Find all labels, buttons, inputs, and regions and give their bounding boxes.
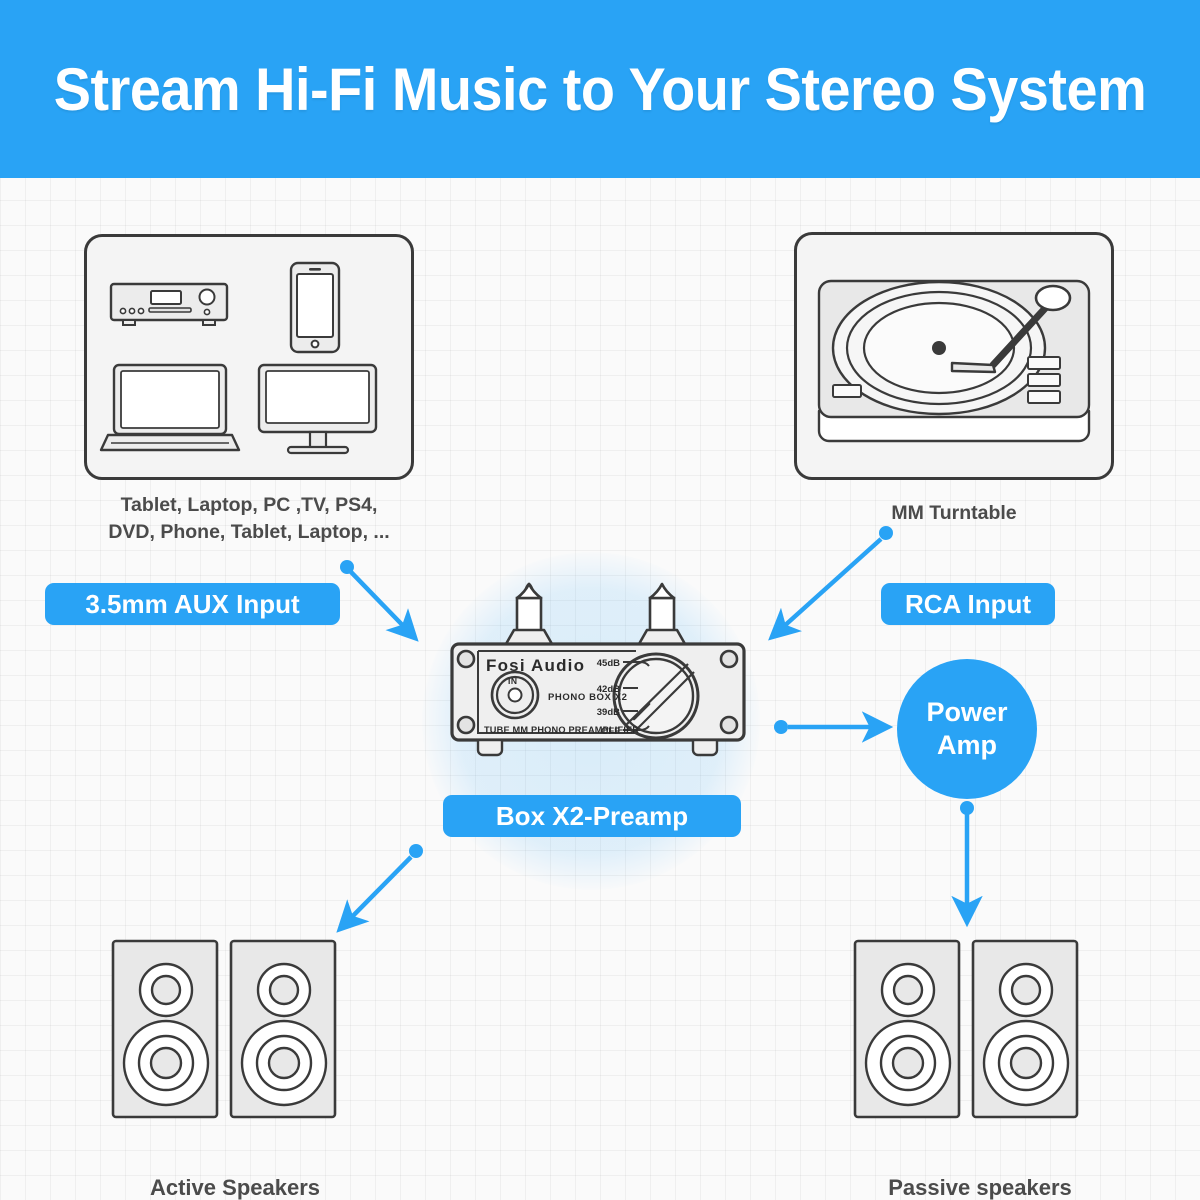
active-speakers-caption-rest: Speakers <box>216 1175 320 1200</box>
preamp-device: Fosi Audio IN PHONO BOX X2 TUBE MM PHONO… <box>438 578 758 778</box>
arrow-power-amp-to-passive-speakers <box>960 801 974 922</box>
vacuum-tube-left-icon <box>506 584 552 644</box>
rca-input-label: RCA Input <box>881 583 1055 625</box>
passive-speakers-group <box>852 938 1102 1128</box>
gain-label-off: OFF <box>601 726 620 737</box>
passive-speakers-caption: Passive speakers <box>840 1147 1120 1200</box>
power-amp-node: Power Amp <box>897 659 1037 799</box>
power-amp-line2: Amp <box>937 729 997 762</box>
header-banner: Stream Hi-Fi Music to Your Stereo System <box>0 0 1200 178</box>
passive-speakers-caption-underlined: Passive <box>888 1175 970 1200</box>
gain-label-39db: 39dB <box>597 707 620 718</box>
arrow-aux-to-preamp <box>340 560 415 638</box>
arrow-rca-to-preamp <box>772 526 893 637</box>
passive-speakers-caption-rest: speakers <box>970 1175 1072 1200</box>
active-speakers-group <box>110 938 360 1128</box>
speaker-icon <box>231 941 335 1117</box>
turntable-panel <box>794 232 1114 480</box>
infographic-canvas: Stream Hi-Fi Music to Your Stereo System <box>0 0 1200 1200</box>
preamp-label: Box X2-Preamp <box>443 795 741 837</box>
arrow-preamp-to-active-speakers <box>340 844 423 929</box>
rca-input-label-text: RCA Input <box>905 589 1031 620</box>
preamp-input-label-text: IN <box>508 676 518 686</box>
digital-sources-caption: Tablet, Laptop, PC ,TV, PS4, DVD, Phone,… <box>64 492 434 546</box>
active-speakers-caption-underlined: Active <box>150 1175 216 1200</box>
smartphone-icon <box>291 263 339 352</box>
page-title: Stream Hi-Fi Music to Your Stereo System <box>42 0 1158 178</box>
power-amp-line1: Power <box>926 696 1007 729</box>
speaker-icon <box>973 941 1077 1117</box>
gain-label-45db: 45dB <box>597 658 620 669</box>
gain-label-42db: 42dB <box>597 684 620 695</box>
preamp-label-text: Box X2-Preamp <box>496 801 688 832</box>
turntable-icon <box>797 235 1111 477</box>
dvd-player-icon <box>111 284 227 325</box>
active-speakers-caption: Active Speakers <box>95 1147 375 1200</box>
aux-input-label: 3.5mm AUX Input <box>45 583 340 625</box>
digital-sources-icons <box>87 237 411 477</box>
preamp-brand-text: Fosi Audio <box>486 656 585 675</box>
laptop-icon <box>101 365 239 450</box>
turntable-caption: MM Turntable <box>804 500 1104 527</box>
speaker-icon <box>113 941 217 1117</box>
digital-sources-panel <box>84 234 414 480</box>
monitor-icon <box>259 365 376 453</box>
aux-input-label-text: 3.5mm AUX Input <box>85 589 299 620</box>
vacuum-tube-right-icon <box>639 584 685 644</box>
arrow-preamp-to-power-amp <box>774 720 888 734</box>
speaker-icon <box>855 941 959 1117</box>
